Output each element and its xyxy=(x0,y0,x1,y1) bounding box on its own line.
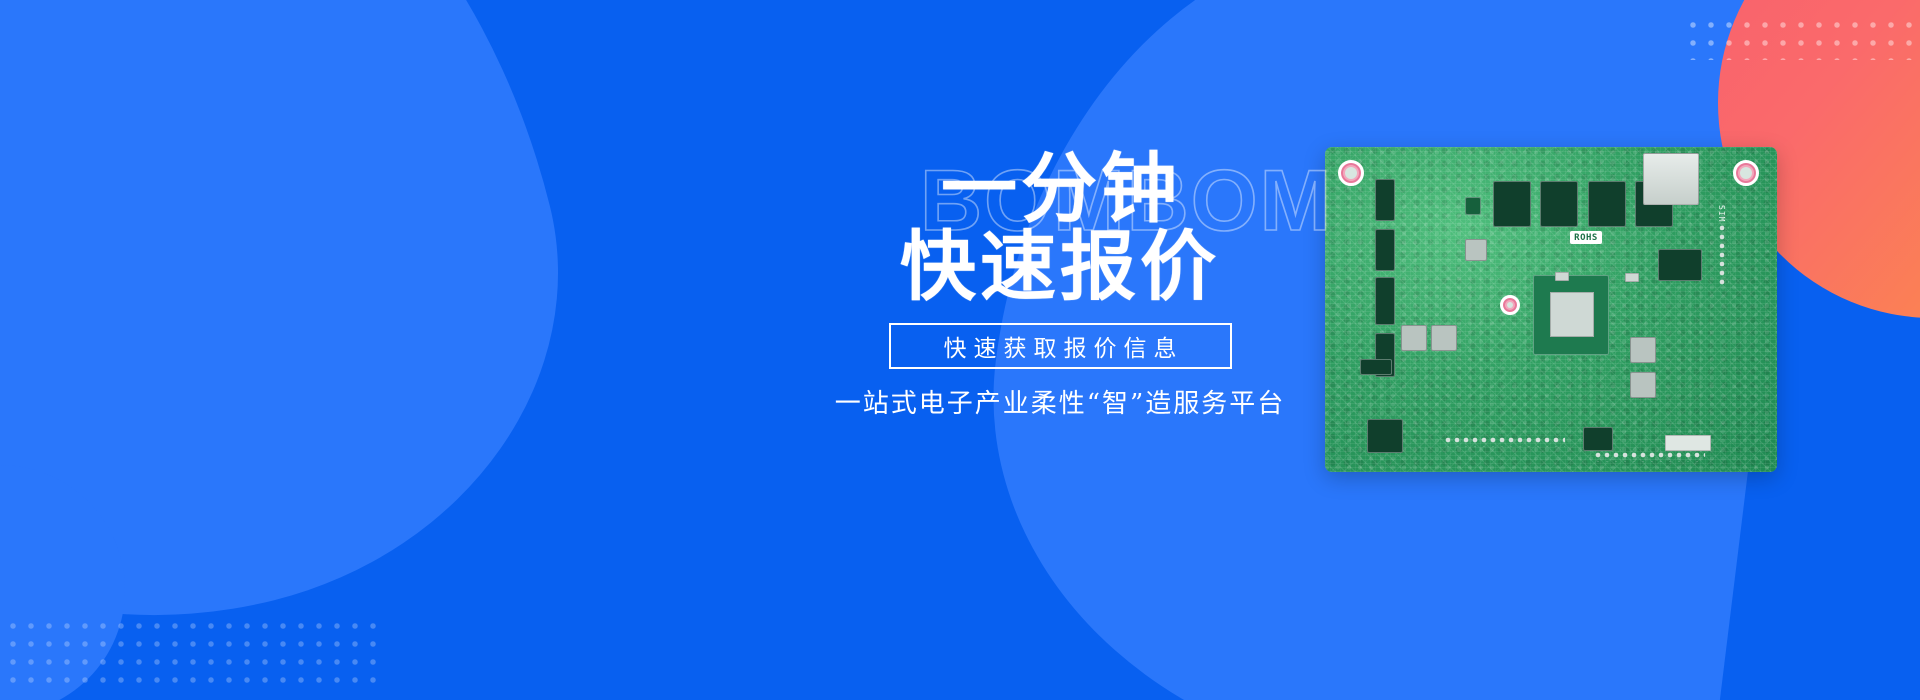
page-title: 一分钟 快速报价 xyxy=(760,150,1360,307)
sim-marking: SIM xyxy=(1717,205,1726,222)
banner-tagline: 一站式电子产业柔性“智”造服务平台 xyxy=(760,383,1360,420)
pcb-board-image: ROHS SIM xyxy=(1325,147,1777,472)
dot-grid-bottom-left xyxy=(10,623,382,695)
dot-grid-top-right xyxy=(1690,22,1920,60)
pin-pads xyxy=(1445,437,1565,447)
pin-pads xyxy=(1719,225,1729,287)
ic-chip xyxy=(1583,427,1613,451)
ic-chip xyxy=(1360,359,1392,375)
edge-connector xyxy=(1665,435,1711,451)
inductor xyxy=(1401,325,1427,351)
ic-chip xyxy=(1465,197,1481,215)
inductor xyxy=(1431,325,1457,351)
get-quote-button[interactable]: 快速获取报价信息 xyxy=(889,323,1232,369)
mounting-hole-center xyxy=(1500,295,1520,315)
sd-card-slot xyxy=(1643,153,1699,205)
banner-stage: ROHS SIM BOMBOM 一分钟 快速报价 快速获取报价信息 一站式电子产… xyxy=(0,0,1920,700)
cpu-chip xyxy=(1533,275,1609,355)
inductor xyxy=(1630,337,1656,363)
headline-line-2: 快速报价 xyxy=(760,228,1360,306)
ic-chip xyxy=(1375,229,1395,271)
inductor xyxy=(1630,372,1656,398)
solder-pad xyxy=(1625,273,1639,282)
mounting-hole-top-right xyxy=(1733,160,1759,186)
memory-chip xyxy=(1540,181,1578,227)
ic-chip xyxy=(1367,419,1403,453)
pin-pads xyxy=(1595,452,1705,462)
flash-chip xyxy=(1658,249,1702,281)
headline-line-1: 一分钟 xyxy=(760,150,1360,228)
ic-chip xyxy=(1375,277,1395,325)
ic-chip xyxy=(1375,179,1395,221)
rohs-marking: ROHS xyxy=(1570,231,1602,244)
solder-pad xyxy=(1555,272,1569,281)
memory-chip xyxy=(1493,181,1531,227)
inductor xyxy=(1465,239,1487,261)
banner-copy: BOMBOM 一分钟 快速报价 快速获取报价信息 一站式电子产业柔性“智”造服务… xyxy=(760,150,1360,420)
memory-chip xyxy=(1588,181,1626,227)
